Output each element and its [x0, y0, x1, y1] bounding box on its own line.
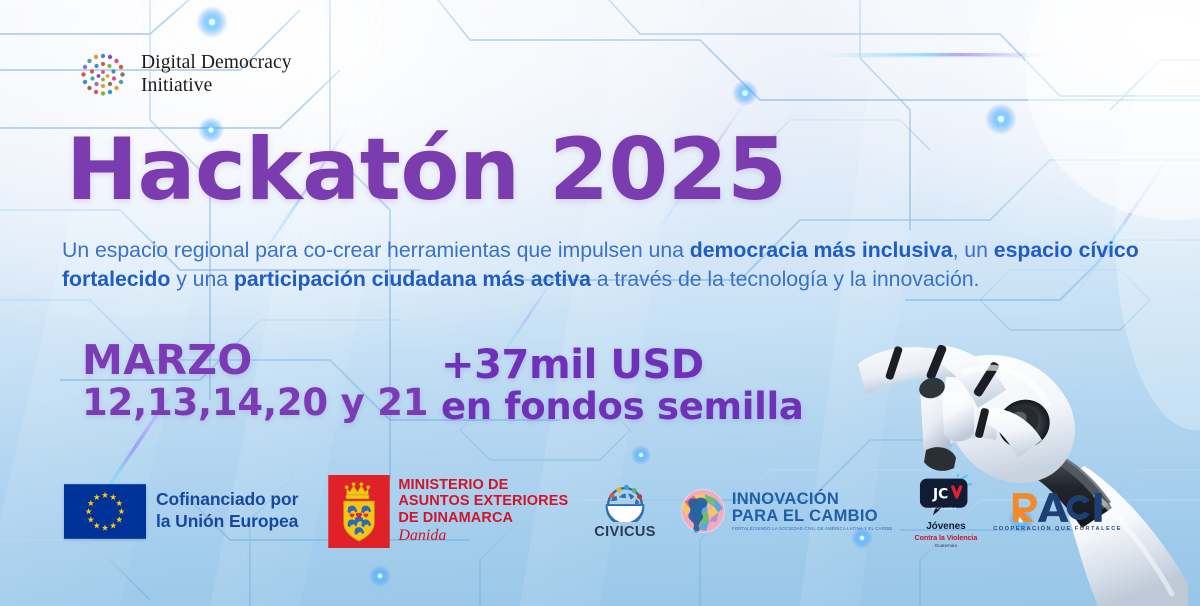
danida-label: Danida [398, 527, 568, 545]
logo-civicus: CIVICUS [594, 482, 656, 540]
jcv-speech-bubble-icon: JC ¡vivos están! [919, 474, 973, 520]
subtitle-run-4: y una [170, 267, 234, 291]
logo-denmark-mfa: MINISTERIO DE ASUNTOS EXTERIORES DE DINA… [328, 475, 568, 548]
logo-jcv: JC ¡vivos están! Jóvenes Contra la Viole… [915, 474, 978, 548]
civicus-wordmark: CIVICUS [594, 524, 656, 540]
funds-caption: en fondos semilla [441, 385, 804, 429]
hero-subtitle: Un espacio regional para co-crear herram… [62, 236, 1167, 294]
civicus-people-circle-icon [602, 482, 648, 522]
denmark-mfa-text-block: MINISTERIO DE ASUNTOS EXTERIORES DE DINA… [398, 477, 568, 545]
innovacion-line2: PARA EL CAMBIO [732, 508, 893, 525]
subtitle-run-2: , un [953, 238, 994, 262]
svg-text:¡vivos están!: ¡vivos están! [931, 505, 956, 510]
svg-text:JC: JC [932, 487, 948, 503]
jcv-line2: Contra la Violencia [915, 533, 978, 542]
innovacion-line1: INNOVACIÓN [732, 491, 893, 508]
event-date: MARZO 12,13,14,20 y 21 [82, 340, 428, 425]
logo-raci: COOPERACIÓN QUE FORTALECE [993, 490, 1122, 532]
innovacion-text-block: INNOVACIÓN PARA EL CAMBIO FORTALECIENDO … [732, 491, 893, 532]
subtitle-run-0: Un espacio regional para co-crear herram… [62, 238, 690, 262]
jcv-line1: Jóvenes [926, 521, 965, 532]
subtitle-run-6: a través de la tecnología y la innovació… [591, 267, 980, 291]
page-title: Hackatón 2025 [66, 129, 786, 212]
jcv-country: Guatemala [935, 543, 957, 548]
innovacion-tagline: FORTALECIENDO LA SOCIEDAD CIVIL DE AMÉRI… [732, 527, 893, 531]
logo-european-union: Cofinanciado por la Unión Europea [64, 484, 298, 539]
ddi-logo: Digital Democracy Initiative [78, 50, 292, 100]
event-days: 12,13,14,20 y 21 [82, 381, 428, 425]
funds-amount: +37mil USD [441, 345, 804, 385]
subtitle-run-1: democracia más inclusiva [690, 238, 953, 262]
promo-banner: Digital Democracy Initiative Hackatón 20… [0, 0, 1200, 606]
seed-funds: +37mil USD en fondos semilla [441, 345, 804, 429]
danish-coat-of-arms-icon [328, 475, 390, 548]
eu-funding-text: Cofinanciado por la Unión Europea [156, 489, 298, 532]
subtitle-run-5: participación ciudadana más activa [234, 267, 591, 291]
raci-wordmark-icon [1010, 490, 1106, 524]
denmark-mfa-text: MINISTERIO DE ASUNTOS EXTERIORES DE DINA… [398, 477, 568, 526]
logo-innovacion-para-el-cambio: INNOVACIÓN PARA EL CAMBIO FORTALECIENDO … [680, 488, 893, 534]
ddi-wordmark: Digital Democracy Initiative [141, 52, 292, 97]
raci-tagline: COOPERACIÓN QUE FORTALECE [993, 526, 1122, 532]
globe-americas-icon [680, 488, 726, 534]
event-month: MARZO [82, 340, 428, 381]
dotted-circle-icon [78, 50, 128, 100]
eu-flag-icon [64, 484, 146, 539]
partner-logos: Cofinanciado por la Unión Europea [64, 474, 1122, 548]
